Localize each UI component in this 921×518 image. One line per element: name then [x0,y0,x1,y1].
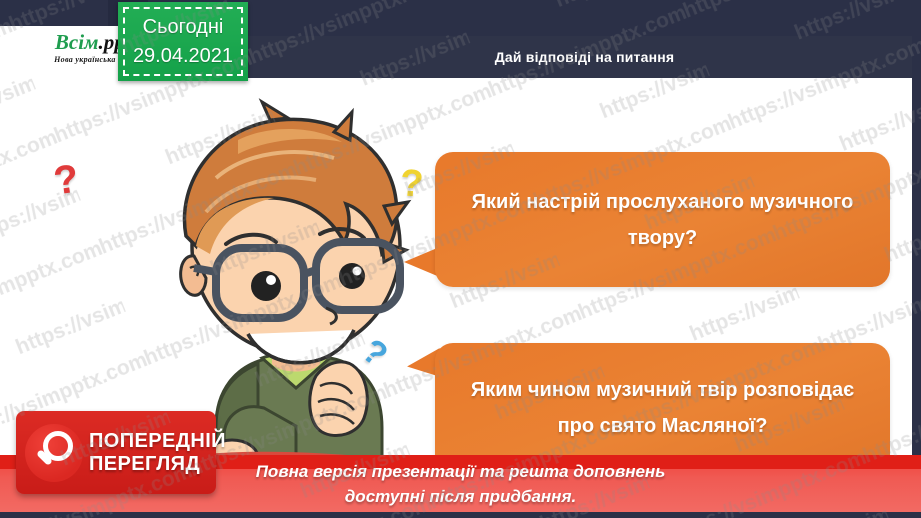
date-badge-content: Сьогодні 29.04.2021 [118,13,248,71]
page-title: Дай відповіді на питання [495,49,675,65]
preview-badge-line1: ПОПЕРЕДНІЙ [89,430,226,453]
logo-title-main: Всім [55,30,99,54]
bottom-edge-rail [0,512,921,518]
date-badge-date: 29.04.2021 [118,42,248,71]
question-bubble-2-text: Яким чином музичний твір розповідає про … [435,372,890,444]
date-badge: Сьогодні 29.04.2021 [118,2,248,81]
question-bubble-1-text: Який настрій прослуханого музичного твор… [435,184,890,256]
preview-badge-line2: ПЕРЕГЛЯД [89,453,226,476]
question-bubble-1[interactable]: Який настрій прослуханого музичного твор… [435,152,890,287]
magnifier-icon [25,424,83,482]
question-bubble-2[interactable]: Яким чином музичний твір розповідає про … [435,343,890,473]
preview-badge-labels: ПОПЕРЕДНІЙ ПЕРЕГЛЯД [89,430,226,476]
right-edge-rail [912,0,921,518]
question-mark-yellow-icon: ? [399,162,425,207]
preview-badge[interactable]: ПОПЕРЕДНІЙ ПЕРЕГЛЯД [16,411,216,494]
presentation-slide: Який настрій прослуханого музичного твор… [0,0,921,518]
header-bar: Дай відповіді на питання [248,36,921,78]
date-badge-label: Сьогодні [118,13,248,42]
